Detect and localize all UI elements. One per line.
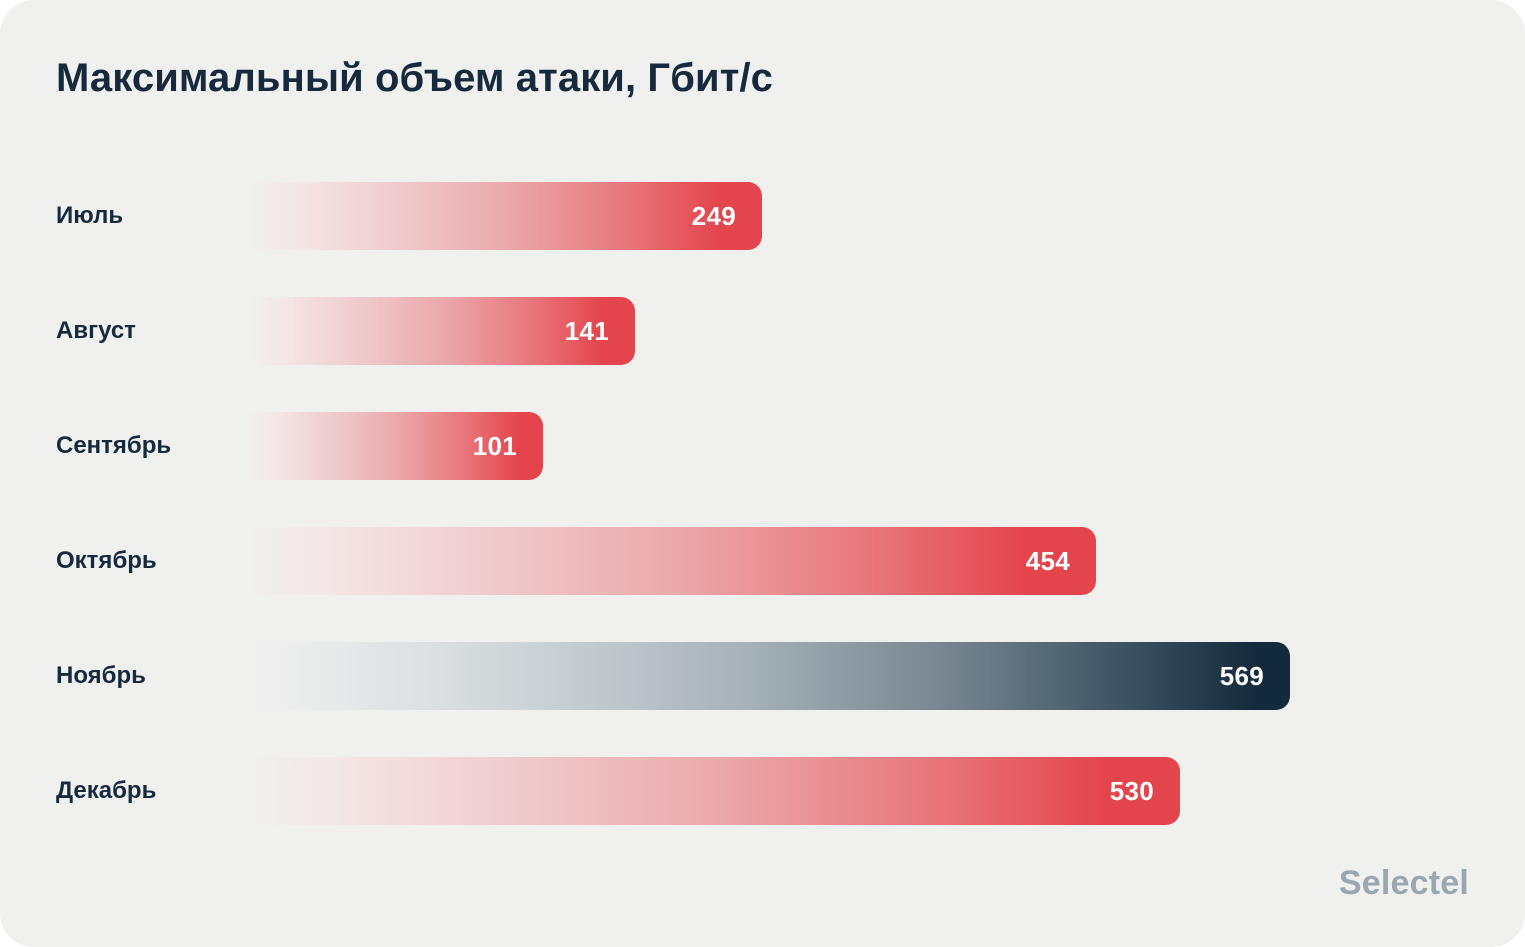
selectel-logo: Selectel [1339,864,1469,903]
bar-track: 569 [248,642,1525,710]
bar-track: 530 [248,757,1525,825]
bar-value-label: 249 [692,201,736,232]
bar-category-label: Октябрь [56,527,157,595]
bar-value-label: 569 [1220,661,1264,692]
bar-chart-plot: Июль249Август141Сентябрь101Октябрь454Ноя… [0,182,1525,872]
bar[interactable]: 454 [248,527,1096,595]
bar-row: Сентябрь101 [0,412,1525,480]
bar-row: Декабрь530 [0,757,1525,825]
bar-track: 101 [248,412,1525,480]
bar[interactable]: 101 [248,412,543,480]
bar-category-label: Сентябрь [56,412,171,480]
bar-row: Август141 [0,297,1525,365]
chart-card: Максимальный объем атаки, Гбит/с Июль249… [0,0,1525,947]
bar-value-label: 101 [473,431,517,462]
bar-category-label: Декабрь [56,757,156,825]
bar-value-label: 141 [565,316,609,347]
bar-row: Октябрь454 [0,527,1525,595]
bar-track: 249 [248,182,1525,250]
bar-value-label: 530 [1110,776,1154,807]
page-title: Максимальный объем атаки, Гбит/с [56,56,773,101]
bar-track: 141 [248,297,1525,365]
bar[interactable]: 249 [248,182,762,250]
bar-value-label: 454 [1026,546,1070,577]
bar-row: Июль249 [0,182,1525,250]
bar-track: 454 [248,527,1525,595]
bar[interactable]: 530 [248,757,1180,825]
bar[interactable]: 569 [248,642,1290,710]
bar-category-label: Июль [56,182,123,250]
bar-row: Ноябрь569 [0,642,1525,710]
bar-category-label: Август [56,297,136,365]
bar-category-label: Ноябрь [56,642,146,710]
bar[interactable]: 141 [248,297,635,365]
